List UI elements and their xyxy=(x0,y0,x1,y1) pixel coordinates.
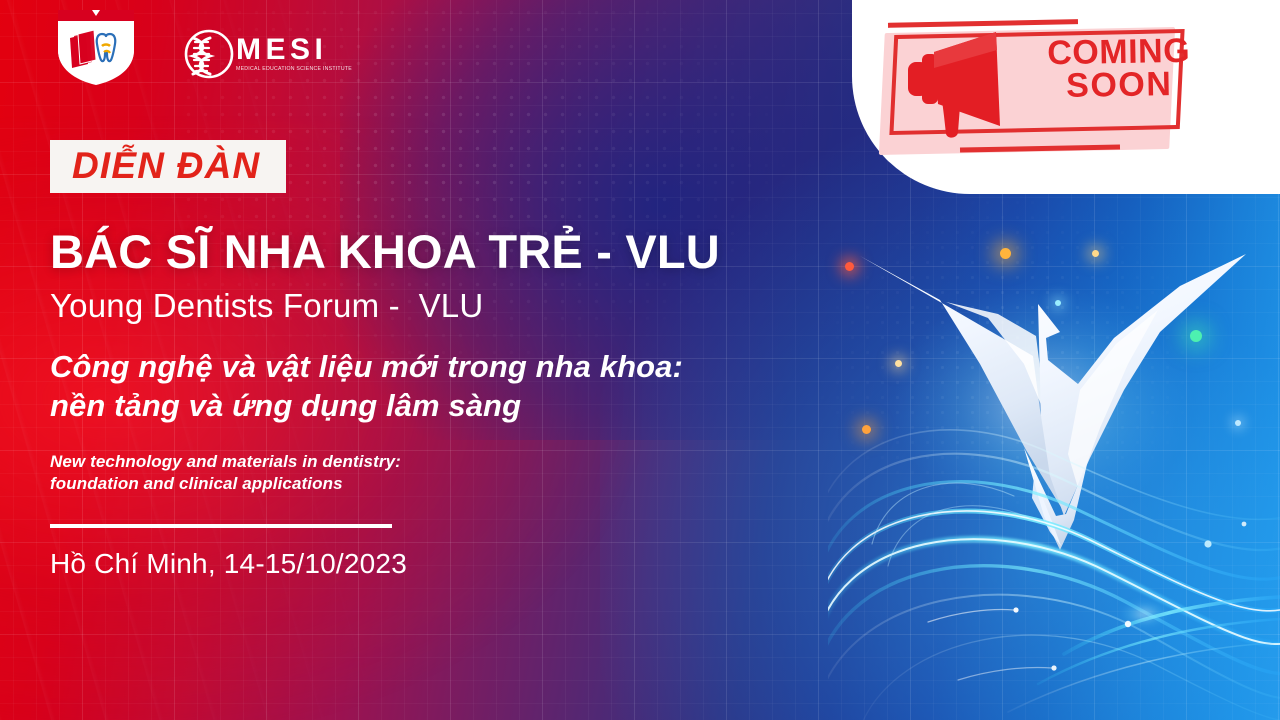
theme-english: New technology and materials in dentistr… xyxy=(50,451,870,496)
coming-soon-rule-top xyxy=(888,19,1078,28)
shield-book-tooth-icon xyxy=(52,6,140,88)
mesi-logo: MESI MEDICAL EDUCATION SCIENCE INSTITUTE xyxy=(180,28,352,80)
coming-soon-line2: SOON xyxy=(1024,68,1215,105)
page-title: BÁC SĨ NHA KHOA TRẺ - VLU xyxy=(50,227,870,276)
mesi-subtitle: MEDICAL EDUCATION SCIENCE INSTITUTE xyxy=(236,67,352,72)
page-title-english: Young Dentists Forum - VLU xyxy=(50,288,870,324)
theme-vietnamese-line2: nền tảng và ứng dụng lâm sàng xyxy=(50,386,870,425)
forum-badge-label: DIỄN ĐÀN xyxy=(72,147,260,184)
theme-english-line2: foundation and clinical applications xyxy=(50,473,870,495)
theme-vietnamese: Công nghệ và vật liệu mới trong nha khoa… xyxy=(50,347,870,425)
banner-content: DIỄN ĐÀN BÁC SĨ NHA KHOA TRẺ - VLU Young… xyxy=(50,140,870,580)
place-and-date: Hồ Chí Minh, 14-15/10/2023 xyxy=(50,548,870,580)
coming-soon-panel: COMING SOON xyxy=(852,0,1280,194)
dna-helix-icon xyxy=(180,28,238,80)
mesi-acronym: MESI xyxy=(236,35,352,65)
event-banner: COMING SOON xyxy=(0,0,1280,720)
logo-row: MESI MEDICAL EDUCATION SCIENCE INSTITUTE xyxy=(52,6,352,88)
theme-vietnamese-line1: Công nghệ và vật liệu mới trong nha khoa… xyxy=(50,347,870,386)
megaphone-icon xyxy=(900,28,1020,140)
coming-soon-text: COMING SOON xyxy=(1023,34,1214,104)
forum-badge: DIỄN ĐÀN xyxy=(50,140,286,193)
content-divider xyxy=(50,524,392,528)
theme-english-line1: New technology and materials in dentistr… xyxy=(50,451,870,473)
